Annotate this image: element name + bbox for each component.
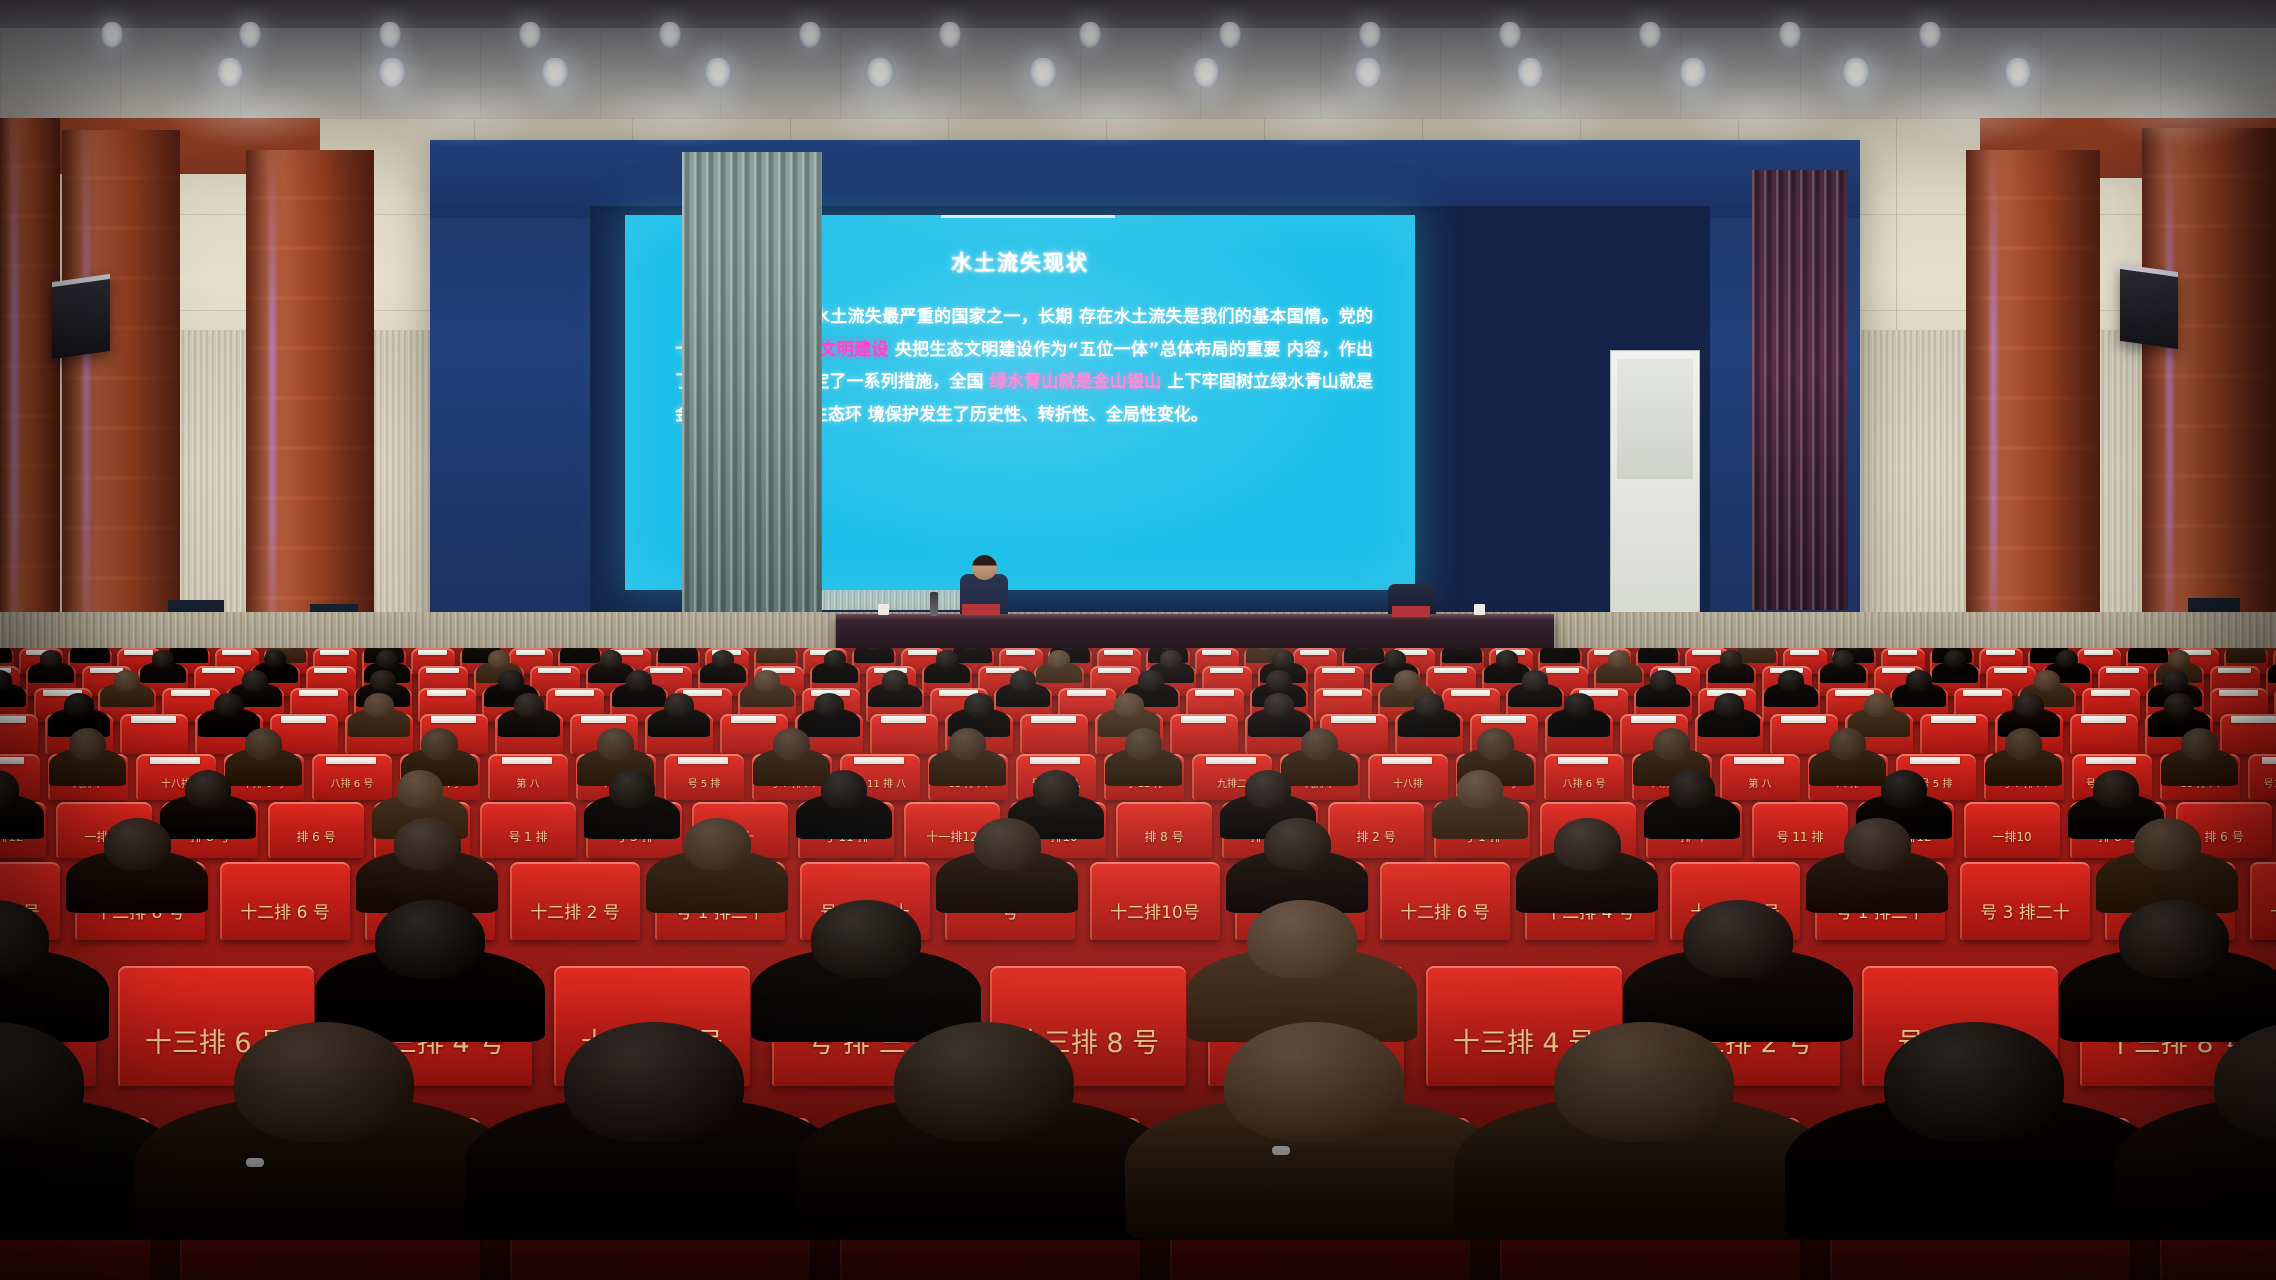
- seat-edge-piping: [480, 802, 576, 858]
- audience-member-head: [1844, 818, 1912, 870]
- wood-column-left-1: [62, 130, 180, 678]
- desk-name-card: [326, 757, 376, 764]
- ceiling-downlight-front-5: [867, 58, 893, 88]
- audience-member-head: [811, 900, 921, 978]
- desk-name-card: [1963, 690, 2001, 696]
- audience-member-head: [1247, 900, 1357, 978]
- ceiling-downlight-back-6: [799, 22, 821, 48]
- desk-name-card: [2218, 668, 2251, 673]
- audience-member-head: [1114, 693, 1144, 717]
- audience-member-head: [1477, 728, 1514, 760]
- theatre-seat[interactable]: 排 2 号: [1328, 802, 1424, 858]
- ceiling-downlight-front-7: [1193, 58, 1219, 88]
- ceiling-downlight-back-11: [1499, 22, 1521, 48]
- seat-edge-piping: [2250, 862, 2276, 940]
- audience-member-head: [1266, 670, 1292, 690]
- desk-name-card: [1206, 757, 1256, 764]
- audience-member-head: [2014, 693, 2044, 717]
- desk-name-card: [1322, 668, 1355, 673]
- seat-edge-piping: [1752, 802, 1848, 858]
- audience-member-head: [1650, 670, 1676, 690]
- desk-name-card: [1558, 757, 1608, 764]
- desk-name-card: [908, 650, 937, 655]
- audience-member-head: [1884, 1022, 2064, 1142]
- theatre-seat[interactable]: 十二排10号: [1090, 862, 1220, 940]
- audience-member-head: [185, 770, 231, 808]
- ceiling-downlight-front-8: [1355, 58, 1381, 88]
- desk-name-card: [2262, 757, 2276, 764]
- desk-name-card: [202, 668, 235, 673]
- seat-edge-piping: [1380, 862, 1510, 940]
- audience-member-head: [1522, 670, 1548, 690]
- audience-member-head: [1653, 728, 1690, 760]
- audience-member: [658, 648, 699, 663]
- ceiling-downlight-back-8: [1079, 22, 1101, 48]
- audience-member-head: [488, 650, 510, 668]
- desk-name-card: [1030, 757, 1080, 764]
- audience-member-head: [1224, 1022, 1404, 1142]
- desk-name-card: [1931, 716, 1976, 723]
- theatre-seat[interactable]: 排 6 号: [268, 802, 364, 858]
- audience-member-head: [1554, 1022, 1734, 1142]
- desk-name-card: [1781, 716, 1826, 723]
- audience-member-head: [242, 670, 268, 690]
- ceiling-downlight-back-1: [101, 22, 123, 48]
- ceiling-downlight-back-4: [519, 22, 541, 48]
- audience-member-head: [1125, 728, 1162, 760]
- audience-member-head: [1496, 650, 1518, 668]
- theatre-seat[interactable]: 十二排10号: [2250, 862, 2276, 940]
- theatre-seat[interactable]: 号 1 排: [480, 802, 576, 858]
- audience-member-head: [514, 693, 544, 717]
- desk-name-card: [0, 757, 24, 764]
- desk-name-card: [1104, 650, 1133, 655]
- audience-member-head: [1048, 650, 1070, 668]
- desk-name-card: [1331, 716, 1376, 723]
- audience-member-head: [1864, 693, 1894, 717]
- audience-member-head: [397, 770, 443, 808]
- desk-name-card: [431, 716, 476, 723]
- audience-member: [1442, 648, 1483, 663]
- audience-member-head: [2164, 693, 2194, 717]
- audience-member-head: [684, 818, 752, 870]
- audience-member-head: [2181, 728, 2218, 760]
- audience-member-head: [1669, 770, 1715, 808]
- desk-name-card: [1210, 668, 1243, 673]
- ceiling-downlight-front-6: [1030, 58, 1056, 88]
- ceiling-downlight-front-1: [217, 58, 243, 88]
- ceiling-downlight-front-11: [1843, 58, 1869, 88]
- stage-curtain-right: [1752, 170, 1848, 610]
- seat-edge-piping: [510, 862, 640, 940]
- wall-mounted-loudspeaker-left: [52, 274, 110, 359]
- desk-name-card: [1300, 650, 1329, 655]
- ceiling-downlight-back-3: [379, 22, 401, 48]
- desk-name-card: [1631, 716, 1676, 723]
- stage-curtain-left: [682, 152, 822, 622]
- audience-member-head: [626, 670, 652, 690]
- desk-name-card: [538, 668, 571, 673]
- audience-member: [2268, 662, 2276, 684]
- desk-name-card: [299, 690, 337, 696]
- audience-member-head: [664, 693, 694, 717]
- desk-name-card: [2091, 690, 2129, 696]
- audience-member: [854, 648, 895, 663]
- ceiling-downlight-front-2: [379, 58, 405, 88]
- audience-member-head: [1264, 693, 1294, 717]
- audience-member-head: [597, 728, 634, 760]
- theatre-seat[interactable]: 号 3 排二十: [1960, 862, 2090, 940]
- desk-name-card: [1994, 668, 2027, 673]
- ceiling-downlight-front-4: [705, 58, 731, 88]
- slide-line-3: 央把生态文明建设作为“五位一体”总体布局的重要: [895, 340, 1281, 360]
- desk-name-card: [1181, 716, 1226, 723]
- audience-member: [560, 648, 601, 663]
- audience-member-head: [1714, 693, 1744, 717]
- audience-member-head: [2162, 670, 2188, 690]
- audience-member-head: [394, 818, 462, 870]
- seat-edge-piping: [1090, 862, 1220, 940]
- desk-name-card: [150, 757, 200, 764]
- audience-member-head: [949, 728, 986, 760]
- desk-name-card: [1067, 690, 1105, 696]
- desk-name-card: [881, 716, 926, 723]
- audience-member-head: [1457, 770, 1503, 808]
- desk-name-card: [1434, 668, 1467, 673]
- audience-member: [2128, 648, 2169, 663]
- audience-member-head: [104, 818, 172, 870]
- audience-member-head: [376, 650, 398, 668]
- desk-name-card: [2084, 650, 2113, 655]
- desk-name-card: [1790, 650, 1819, 655]
- audience-member-head: [2134, 818, 2202, 870]
- desk-name-card: [314, 668, 347, 673]
- ceiling-downlight-back-13: [1779, 22, 1801, 48]
- desk-name-card: [2219, 690, 2257, 696]
- audience-member-head: [264, 650, 286, 668]
- ceiling-downlight-front-10: [1680, 58, 1706, 88]
- column-led-sheen: [269, 150, 276, 680]
- audience-member-head: [1608, 650, 1630, 668]
- audience-member-head: [234, 1022, 414, 1142]
- audience-member-head: [824, 650, 846, 668]
- desk-name-card: [854, 757, 904, 764]
- column-led-sheen: [2166, 128, 2173, 680]
- audience-member-head: [2005, 728, 2042, 760]
- seat-edge-piping: [220, 862, 350, 940]
- audience-member: [2226, 648, 2267, 663]
- desk-name-card: [1202, 650, 1231, 655]
- ceiling-downlight-front-3: [542, 58, 568, 88]
- audience-member: [1638, 648, 1679, 663]
- theatre-seat[interactable]: 一排10: [1964, 802, 2060, 858]
- audience-member-head: [421, 728, 458, 760]
- desk-name-card: [731, 716, 776, 723]
- desk-name-card: [2106, 668, 2139, 673]
- audience-member-head: [2093, 770, 2139, 808]
- audience-member-head: [936, 650, 958, 668]
- audience-member-head: [814, 693, 844, 717]
- desk-name-card: [222, 650, 251, 655]
- desk-name-card: [1382, 757, 1432, 764]
- ceiling: [0, 0, 2276, 126]
- audience-member-head: [564, 1022, 744, 1142]
- seat-edge-piping: [1964, 802, 2060, 858]
- wood-column-right-1: [1966, 150, 2100, 680]
- audience-member-head: [152, 650, 174, 668]
- audience-member-head: [1394, 670, 1420, 690]
- audience-member-head: [2056, 650, 2078, 668]
- audience-member-head: [712, 650, 734, 668]
- audience-member-head: [370, 670, 396, 690]
- audience-member-head: [1414, 693, 1444, 717]
- desk-name-card: [320, 650, 349, 655]
- audience-member: [1344, 648, 1385, 663]
- seat-edge-piping: [268, 802, 364, 858]
- tea-cup-left: [878, 604, 889, 615]
- slide-line-6: 境保护发生了历史性、转折性、全局性变化。: [868, 405, 1208, 425]
- second-name-placard: [1392, 606, 1430, 617]
- desk-name-card: [1888, 650, 1917, 655]
- desk-name-card: [124, 650, 153, 655]
- audience-member-head: [40, 650, 62, 668]
- desk-name-card: [281, 716, 326, 723]
- audience-member-head: [773, 728, 810, 760]
- audience-member-head: [1906, 670, 1932, 690]
- desk-name-card: [2086, 757, 2136, 764]
- column-led-sheen: [83, 130, 90, 678]
- audience-member-head: [1033, 770, 1079, 808]
- wall-mounted-loudspeaker-right: [2120, 264, 2178, 349]
- theatre-seat[interactable]: 十二排 6 号: [1380, 862, 1510, 940]
- audience-member-head: [964, 693, 994, 717]
- face-mask: [1272, 1146, 1290, 1155]
- desk-name-card: [581, 716, 626, 723]
- audience-member-head: [69, 728, 106, 760]
- theatre-seat[interactable]: 排 8 号: [1116, 802, 1212, 858]
- audience-member-head: [64, 693, 94, 717]
- column-led-sheen: [11, 118, 18, 678]
- desk-name-card: [171, 690, 209, 696]
- audience-member-head: [364, 693, 394, 717]
- desk-name-card: [1910, 757, 1960, 764]
- ceiling-downlight-back-10: [1359, 22, 1381, 48]
- theatre-seat[interactable]: 十二排 2 号: [510, 862, 640, 940]
- slide-highlight-2: 绿水青山就是金山银山: [990, 372, 1162, 392]
- desk-name-card: [1692, 650, 1721, 655]
- audience-member: [756, 648, 797, 663]
- desk-name-card: [426, 668, 459, 673]
- speaker-name-placard: [962, 604, 1000, 615]
- audience-member: [0, 648, 12, 663]
- auditorium-photo: 水土流失现状 中国是世界上水土流失最严重的国家之一，长期 存在水土流失是我们的基…: [0, 0, 2276, 1280]
- screen-top-highlight: [941, 215, 1115, 218]
- desk-name-card: [1031, 716, 1076, 723]
- audience-member-head: [1264, 818, 1332, 870]
- ceiling-downlight-back-12: [1639, 22, 1661, 48]
- desk-name-card: [1986, 650, 2015, 655]
- audience-member-head: [1720, 650, 1742, 668]
- desk-name-card: [650, 668, 683, 673]
- audience-member-head: [974, 818, 1042, 870]
- desk-name-card: [1098, 668, 1131, 673]
- water-bottle: [930, 592, 938, 616]
- wood-column-far-left: [0, 118, 60, 678]
- desk-name-card: [2231, 716, 2276, 723]
- audience-member: [70, 648, 111, 663]
- theatre-seat[interactable]: 号 11 排: [1752, 802, 1848, 858]
- desk-name-card: [678, 757, 728, 764]
- audience-member-head: [600, 650, 622, 668]
- desk-name-card: [418, 650, 447, 655]
- audience-member-head: [245, 728, 282, 760]
- ceiling-downlight-back-5: [659, 22, 681, 48]
- audience-member: [1540, 648, 1581, 663]
- desk-name-card: [516, 650, 545, 655]
- desk-name-card: [1006, 650, 1035, 655]
- audience-member-head: [1138, 670, 1164, 690]
- ceiling-downlight-back-2: [239, 22, 261, 48]
- audience-member-head: [214, 693, 244, 717]
- audience-member-head: [498, 670, 524, 690]
- audience-member-head: [1832, 650, 1854, 668]
- theatre-seat[interactable]: 十二排 6 号: [220, 862, 350, 940]
- audience-member-head: [1881, 770, 1927, 808]
- audience-member-head: [375, 900, 485, 978]
- audience-seating-area: 九排二九排十十八排十排 6 号八排 6 号八排六号第 八八 排号 5 排号 7 …: [0, 648, 2276, 1280]
- audience-member-head: [1778, 670, 1804, 690]
- tea-cup-right: [1474, 604, 1485, 615]
- wood-column-left-2: [246, 150, 374, 680]
- ceiling-downlight-back-14: [1919, 22, 1941, 48]
- face-mask: [246, 1158, 264, 1167]
- audience-member-head: [1245, 770, 1291, 808]
- desk-name-card: [1546, 668, 1579, 673]
- audience-member-head: [1829, 728, 1866, 760]
- desk-name-card: [0, 716, 26, 723]
- ceiling-downlight-back-9: [1219, 22, 1241, 48]
- ceiling-downlight-front-12: [2005, 58, 2031, 88]
- audience-member-head: [609, 770, 655, 808]
- ceiling-downlight-back-7: [939, 22, 961, 48]
- seat-edge-piping: [1116, 802, 1212, 858]
- desk-name-card: [1835, 690, 1873, 696]
- seat-edge-piping: [1328, 802, 1424, 858]
- audience-member-head: [1160, 650, 1182, 668]
- audience-member-head: [821, 770, 867, 808]
- audience-member-head: [1683, 900, 1793, 978]
- audience-member-head: [1384, 650, 1406, 668]
- desk-name-card: [1195, 690, 1233, 696]
- audience-member-head: [1272, 650, 1294, 668]
- ceiling-downlight-front-9: [1517, 58, 1543, 88]
- desk-name-card: [131, 716, 176, 723]
- audience-member-head: [2168, 650, 2190, 668]
- desk-name-card: [1451, 690, 1489, 696]
- audience-member-head: [1554, 818, 1622, 870]
- audience-member-head: [894, 1022, 1074, 1142]
- desk-name-card: [1481, 716, 1526, 723]
- head-table-top-edge: [836, 614, 1554, 620]
- desk-name-card: [1323, 690, 1361, 696]
- column-led-sheen: [1990, 150, 1997, 680]
- desk-name-card: [427, 690, 465, 696]
- audience-member-head: [882, 670, 908, 690]
- audience-member-head: [2034, 670, 2060, 690]
- stage-side-cabinet: [1610, 350, 1700, 614]
- audience-member-head: [114, 670, 140, 690]
- desk-name-card: [2081, 716, 2126, 723]
- audience-member-head: [2119, 900, 2229, 978]
- desk-name-card: [502, 757, 552, 764]
- desk-name-card: [1734, 757, 1784, 764]
- audience-member-head: [1010, 670, 1036, 690]
- audience-member-head: [1301, 728, 1338, 760]
- audience-member-head: [1564, 693, 1594, 717]
- seat-edge-piping: [1960, 862, 2090, 940]
- desk-name-card: [555, 690, 593, 696]
- audience-member-head: [1944, 650, 1966, 668]
- audience-member-head: [754, 670, 780, 690]
- speaker-head: [972, 555, 997, 580]
